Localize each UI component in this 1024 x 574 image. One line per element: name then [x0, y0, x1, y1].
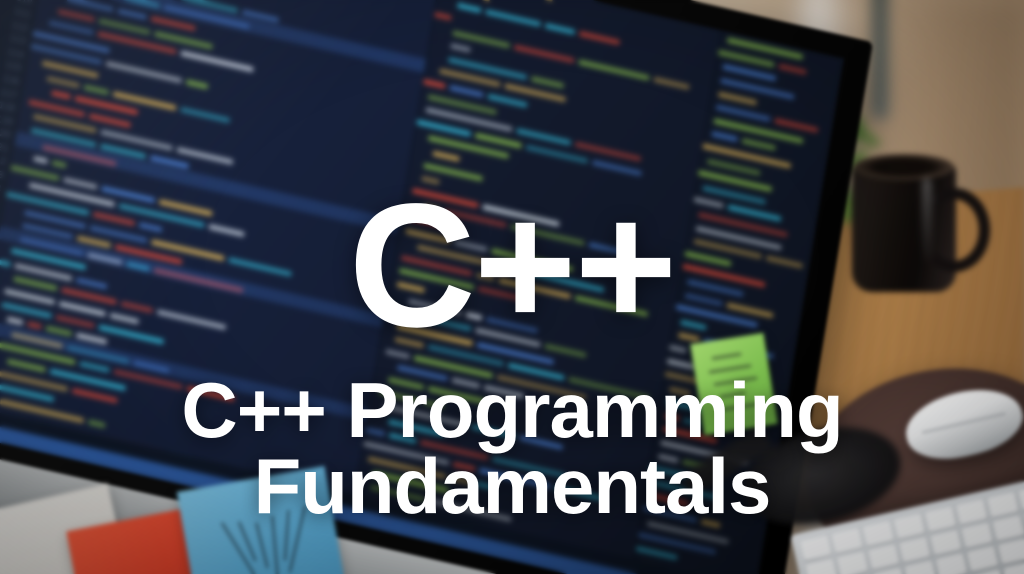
subtitle: C++ Programming Fundamentals	[0, 372, 1024, 525]
thumbnail-image: 1011021031041051061071081091101111121131…	[0, 0, 1024, 574]
subtitle-line-2: Fundamentals	[0, 448, 1024, 524]
subtitle-line-1: C++ Programming	[181, 366, 842, 454]
cpp-logo-text: C++	[0, 178, 1024, 354]
text-overlay: C++ C++ Programming Fundamentals	[0, 0, 1024, 574]
